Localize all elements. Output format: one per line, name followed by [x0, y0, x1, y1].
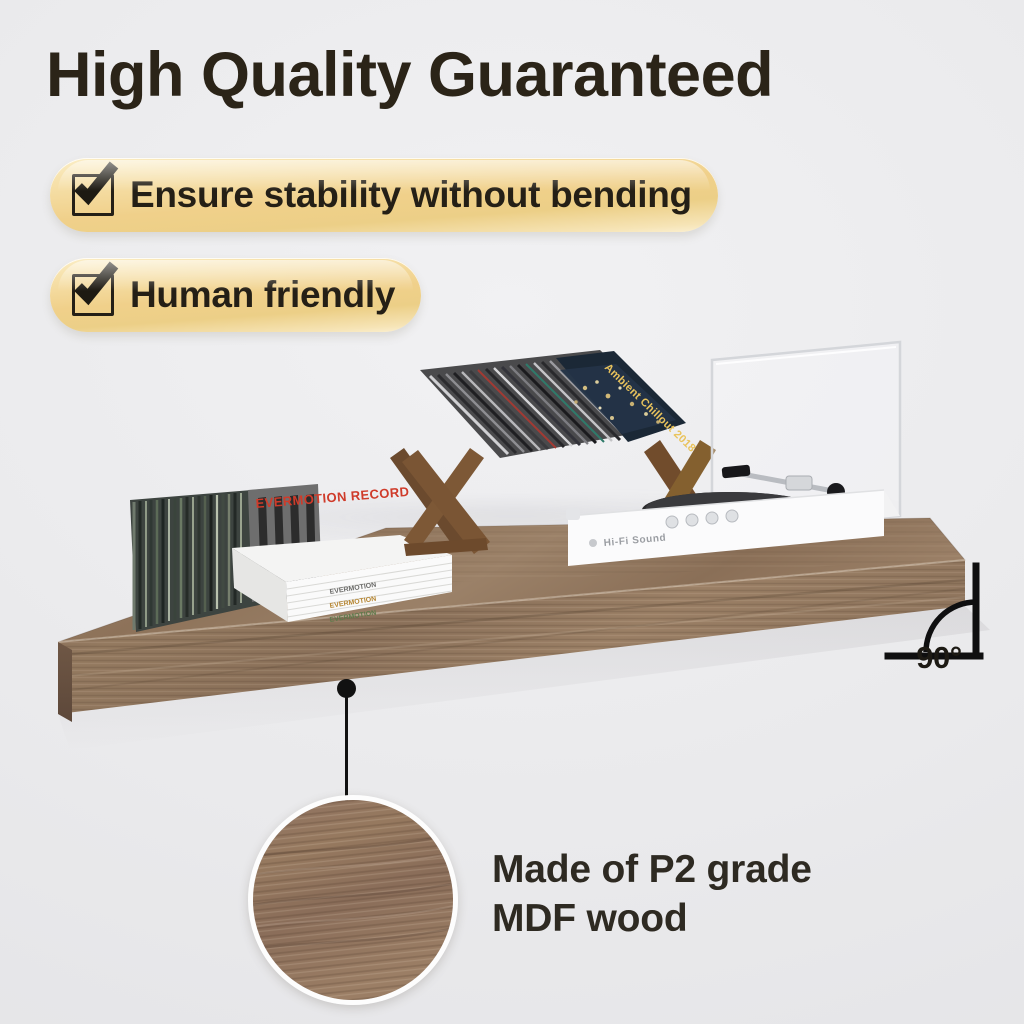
checkmark-icon	[72, 174, 114, 216]
product-feature-graphic: High Quality Guaranteed Ensure stability…	[0, 0, 1024, 1024]
feature-badge-stability: Ensure stability without bending	[50, 158, 718, 232]
material-caption-line1: Made of P2 grade	[492, 846, 812, 895]
checkmark-icon	[72, 274, 114, 316]
page-title: High Quality Guaranteed	[46, 44, 773, 107]
material-caption: Made of P2 grade MDF wood	[492, 846, 812, 944]
angle-value-label: 90°	[884, 640, 994, 676]
floating-shelf-illustration: EVERMOTION RECORD EVERMOTION EVERMOTION …	[0, 330, 1024, 770]
wood-grain-swatch	[248, 795, 458, 1005]
product-photo: EVERMOTION RECORD EVERMOTION EVERMOTION …	[0, 330, 1024, 770]
feature-badge-human-friendly: Human friendly	[50, 258, 421, 332]
feature-badge-label: Human friendly	[130, 274, 395, 316]
feature-badge-label: Ensure stability without bending	[130, 174, 692, 216]
material-caption-line2: MDF wood	[492, 895, 812, 944]
